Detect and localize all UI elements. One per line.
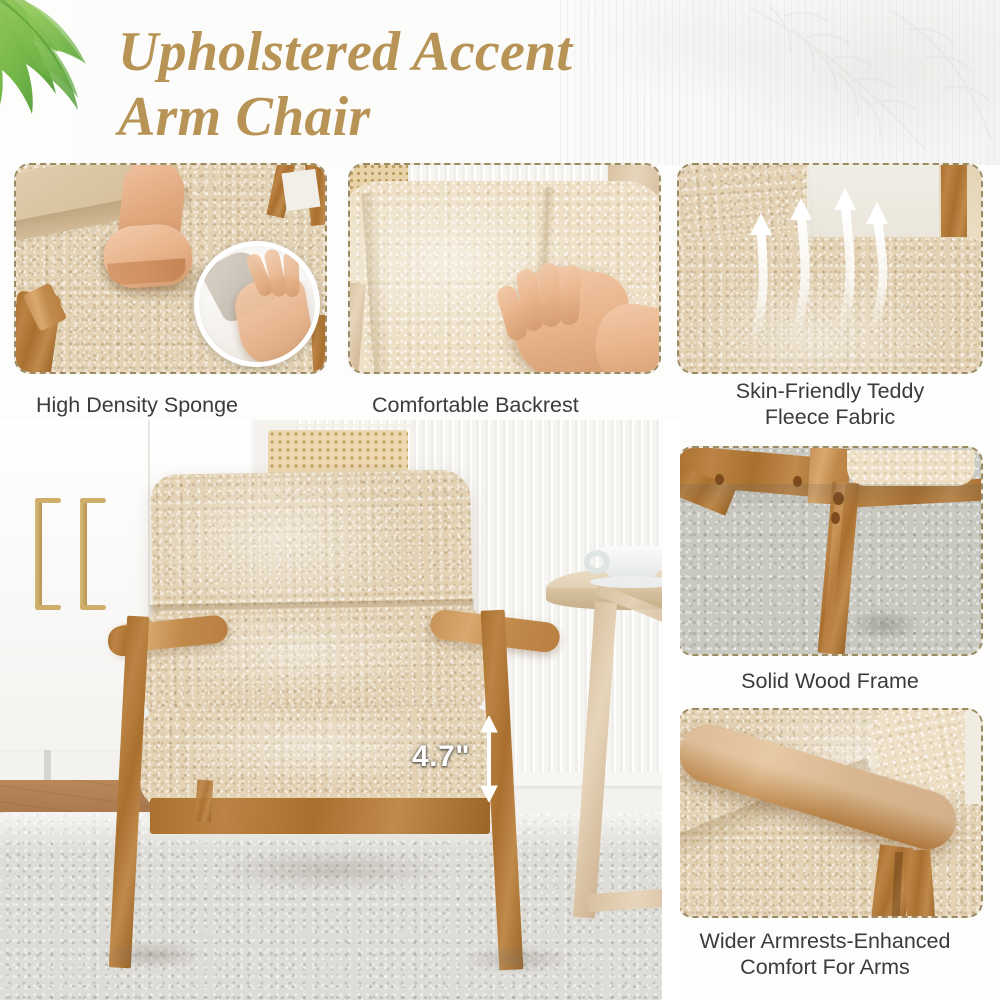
- layout-gutter: [662, 420, 680, 1000]
- page-title: Upholstered Accent Arm Chair: [118, 20, 798, 150]
- chair-leg-rear-left: [195, 779, 214, 822]
- caption-high-density-sponge: High Density Sponge: [36, 392, 316, 418]
- seat-height-label: 4.7": [412, 740, 470, 774]
- title-line-2: Arm Chair: [118, 85, 798, 150]
- photo-solid-wood-frame: [679, 448, 981, 654]
- cabinet-handle-right: [80, 498, 87, 610]
- caption-skin-friendly-fabric: Skin-Friendly Teddy Fleece Fabric: [677, 378, 983, 430]
- photo-comfortable-backrest: [350, 165, 659, 372]
- airflow-arrows-icon: [679, 165, 983, 374]
- photo-high-density-sponge: [16, 165, 325, 372]
- infographic-page: Upholstered Accent Arm Chair: [0, 0, 1000, 1000]
- panel-wider-armrests[interactable]: [677, 708, 983, 918]
- caption-wider-armrests: Wider Armrests-Enhanced Comfort For Arms: [650, 928, 1000, 980]
- panel-solid-wood-frame[interactable]: [677, 446, 983, 656]
- panel-high-density-sponge[interactable]: [14, 163, 327, 374]
- hero-room-photo: 4.7": [0, 420, 670, 1000]
- caption-comfortable-backrest: Comfortable Backrest: [372, 392, 672, 418]
- panel-skin-friendly-fabric[interactable]: [677, 163, 983, 374]
- cabinet-handle-left: [35, 498, 42, 610]
- foam-inset-photo: [194, 241, 320, 367]
- palm-leaf-icon: [0, 0, 136, 150]
- caption-solid-wood-frame: Solid Wood Frame: [677, 668, 983, 694]
- panel-comfortable-backrest[interactable]: [348, 163, 661, 374]
- photo-wider-armrests: [679, 710, 981, 916]
- photo-skin-friendly-fabric: [679, 165, 981, 372]
- double-arrow-vertical-icon: [476, 716, 502, 802]
- title-line-1: Upholstered Accent: [118, 21, 572, 83]
